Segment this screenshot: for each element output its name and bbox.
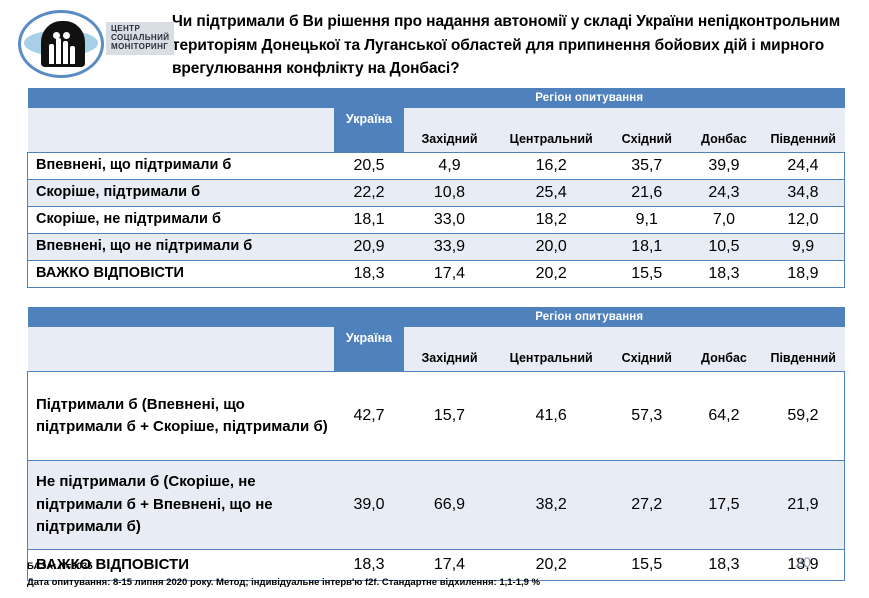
cell-tsentralnyi: 41,6 [495, 372, 608, 461]
band-title-region: Регіон опитування [334, 88, 845, 108]
cell-tsentralnyi: 38,2 [495, 461, 608, 550]
logo-people-icon [49, 30, 77, 64]
cell-skhidnyi: 27,2 [608, 461, 686, 550]
cell-donbas: 7,0 [686, 207, 762, 234]
row-label: ВАЖКО ВІДПОВІСТИ [28, 261, 334, 288]
cell-donbas: 17,5 [686, 461, 762, 550]
logo-disc-icon [41, 21, 85, 67]
cell-zahidnyi: 17,4 [404, 261, 495, 288]
cell-donbas: 64,2 [686, 372, 762, 461]
organization-logo: ЦЕНТР СОЦІАЛЬНИЙ МОНІТОРИНГ [0, 4, 168, 82]
cell-zahidnyi: 15,7 [404, 372, 495, 461]
cell-zahidnyi: 66,9 [404, 461, 495, 550]
cell-pivdennyi: 59,2 [762, 372, 845, 461]
header-cell-pivdennyi: Південний [762, 108, 845, 153]
table-row: Впевнені, що не підтримали б 20,9 33,9 2… [28, 234, 845, 261]
cell-pivdennyi: 24,4 [762, 153, 845, 180]
footer-method: Дата опитування: 8-15 липня 2020 року. М… [27, 575, 540, 592]
row-label: Впевнені, що підтримали б [28, 153, 334, 180]
table-one-container: Регіон опитування Україна Західний Центр… [0, 88, 869, 288]
cell-zahidnyi: 4,9 [404, 153, 495, 180]
table-one-header-row: Україна Західний Центральний Східний Дон… [28, 108, 845, 153]
cell-pivdennyi: 18,9 [762, 261, 845, 288]
cell-donbas: 10,5 [686, 234, 762, 261]
cell-ukraine: 18,1 [334, 207, 404, 234]
band-spacer-cell [28, 88, 334, 108]
cell-tsentralnyi: 18,2 [495, 207, 608, 234]
cell-tsentralnyi: 16,2 [495, 153, 608, 180]
header-cell-pivdennyi: Південний [762, 327, 845, 372]
cell-skhidnyi: 15,5 [608, 550, 686, 581]
table-row: Підтримали б (Впевнені, що підтримали б … [28, 372, 845, 461]
cell-skhidnyi: 15,5 [608, 261, 686, 288]
page-number: 20 [795, 554, 811, 570]
header-cell-zahidnyi: Західний [404, 108, 495, 153]
row-label: Не підтримали б (Скоріше, не підтримали … [28, 461, 334, 550]
cell-ukraine: 18,3 [334, 261, 404, 288]
table-row: Скоріше, не підтримали б 18,1 33,0 18,2 … [28, 207, 845, 234]
band-spacer-cell [28, 307, 334, 327]
row-label: Впевнені, що не підтримали б [28, 234, 334, 261]
cell-skhidnyi: 35,7 [608, 153, 686, 180]
band-title-region: Регіон опитування [334, 307, 845, 327]
header-cell-tsentralnyi: Центральний [495, 108, 608, 153]
cell-donbas: 39,9 [686, 153, 762, 180]
header-cell-blank [28, 108, 334, 153]
header-cell-skhidnyi: Східний [608, 108, 686, 153]
cell-zahidnyi: 33,9 [404, 234, 495, 261]
cell-tsentralnyi: 20,0 [495, 234, 608, 261]
slide-header: ЦЕНТР СОЦІАЛЬНИЙ МОНІТОРИНГ Чи підтримал… [0, 0, 869, 82]
cell-zahidnyi: 33,0 [404, 207, 495, 234]
cell-skhidnyi: 21,6 [608, 180, 686, 207]
table-aggregated-responses: Регіон опитування Україна Західний Центр… [27, 307, 845, 581]
table-row: ВАЖКО ВІДПОВІСТИ 18,3 17,4 20,2 15,5 18,… [28, 261, 845, 288]
page-title: Чи підтримали б Ви рішення про надання а… [168, 4, 869, 81]
row-label: Скоріше, підтримали б [28, 180, 334, 207]
logo-wordmark: ЦЕНТР СОЦІАЛЬНИЙ МОНІТОРИНГ [106, 22, 174, 55]
cell-skhidnyi: 18,1 [608, 234, 686, 261]
header-cell-blank [28, 327, 334, 372]
cell-ukraine: 20,9 [334, 234, 404, 261]
table-two-header-row: Україна Західний Центральний Східний Дон… [28, 327, 845, 372]
cell-pivdennyi: 9,9 [762, 234, 845, 261]
cell-ukraine: 39,0 [334, 461, 404, 550]
header-cell-zahidnyi: Західний [404, 327, 495, 372]
cell-skhidnyi: 9,1 [608, 207, 686, 234]
cell-ukraine: 42,7 [334, 372, 404, 461]
table-one-band-row: Регіон опитування [28, 88, 845, 108]
slide-footer: БАЗА: N=3035 Дата опитування: 8-15 липня… [27, 559, 540, 592]
table-detailed-responses: Регіон опитування Україна Західний Центр… [27, 88, 845, 288]
cell-pivdennyi: 21,9 [762, 461, 845, 550]
cell-skhidnyi: 57,3 [608, 372, 686, 461]
header-cell-donbas: Донбас [686, 327, 762, 372]
table-row: Впевнені, що підтримали б 20,5 4,9 16,2 … [28, 153, 845, 180]
logo-line-3: МОНІТОРИНГ [111, 43, 169, 52]
cell-pivdennyi: 34,8 [762, 180, 845, 207]
cell-ukraine: 22,2 [334, 180, 404, 207]
cell-tsentralnyi: 20,2 [495, 261, 608, 288]
footer-base: БАЗА: N=3035 [27, 559, 540, 576]
row-label: Підтримали б (Впевнені, що підтримали б … [28, 372, 334, 461]
table-row: Не підтримали б (Скоріше, не підтримали … [28, 461, 845, 550]
row-label: Скоріше, не підтримали б [28, 207, 334, 234]
header-cell-donbas: Донбас [686, 108, 762, 153]
table-two-container: Регіон опитування Україна Західний Центр… [0, 307, 869, 581]
cell-pivdennyi: 12,0 [762, 207, 845, 234]
header-cell-ukraine: Україна [334, 108, 404, 153]
table-two-band-row: Регіон опитування [28, 307, 845, 327]
cell-donbas: 18,3 [686, 261, 762, 288]
header-cell-ukraine: Україна [334, 327, 404, 372]
table-row: Скоріше, підтримали б 22,2 10,8 25,4 21,… [28, 180, 845, 207]
cell-tsentralnyi: 25,4 [495, 180, 608, 207]
cell-donbas: 24,3 [686, 180, 762, 207]
cell-zahidnyi: 10,8 [404, 180, 495, 207]
header-cell-skhidnyi: Східний [608, 327, 686, 372]
cell-ukraine: 20,5 [334, 153, 404, 180]
header-cell-tsentralnyi: Центральний [495, 327, 608, 372]
cell-donbas: 18,3 [686, 550, 762, 581]
